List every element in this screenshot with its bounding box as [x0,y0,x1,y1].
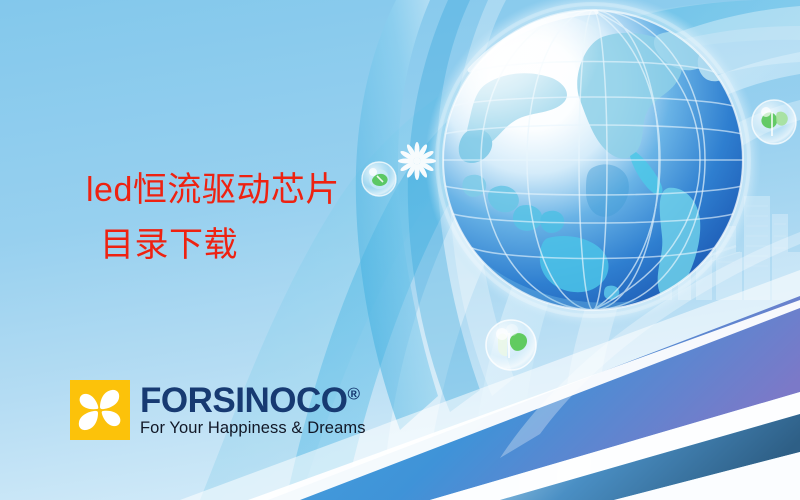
logo-mark-icon [70,380,130,440]
slide-canvas: led恒流驱动芯片 目录下载 FORSINOCO® For Your Happi… [0,0,800,500]
logo-wordmark: FORSINOCO® For Your Happiness & Dreams [140,383,366,437]
logo-tagline: For Your Happiness & Dreams [140,420,366,437]
headline-line-1: led恒流驱动芯片 [86,163,416,218]
bubble-small-bottom [506,324,518,336]
bubble-with-globe-right [752,100,796,144]
registered-trademark-icon: ® [347,385,359,404]
logo-company-name: FORSINOCO® [140,383,366,418]
logo-company-name-text: FORSINOCO [140,381,347,420]
headline: led恒流驱动芯片 目录下载 [86,163,416,273]
company-logo: FORSINOCO® For Your Happiness & Dreams [70,380,366,440]
headline-line-2: 目录下载 [86,218,416,273]
